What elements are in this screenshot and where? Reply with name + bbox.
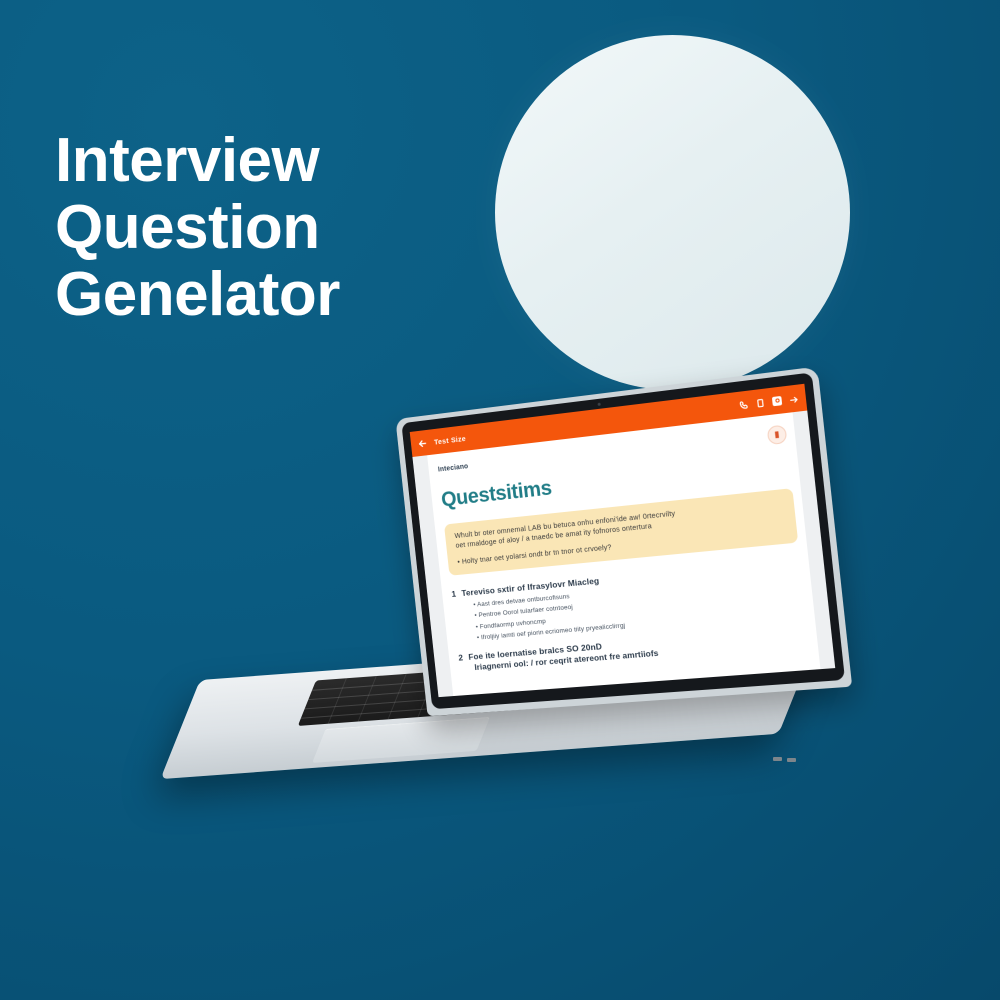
port-left xyxy=(773,757,782,761)
list-number: 2 xyxy=(458,653,463,663)
arrow-left-icon[interactable] xyxy=(417,437,428,449)
share-icon[interactable] xyxy=(789,393,799,403)
list-number: 1 xyxy=(451,589,456,599)
port-right xyxy=(787,758,796,762)
laptop-device: Test Size xyxy=(195,385,875,805)
screen: Test Size xyxy=(410,384,836,697)
battery-icon[interactable] xyxy=(755,397,765,407)
title-line-2: Question xyxy=(55,195,475,262)
webcam-icon xyxy=(598,403,601,406)
screen-bezel: Test Size xyxy=(401,372,845,709)
app-bar-actions xyxy=(739,393,799,409)
record-icon[interactable] xyxy=(772,395,782,405)
page-title: Interview Question Genelator xyxy=(55,128,475,329)
user-badge-icon[interactable]: ▮ xyxy=(767,425,788,446)
user-badge-glyph: ▮ xyxy=(774,430,779,439)
trackpad[interactable] xyxy=(312,717,490,763)
title-line-1: Interview xyxy=(55,128,475,195)
laptop-lid: Test Size xyxy=(395,366,852,716)
phone-icon[interactable] xyxy=(739,399,749,409)
title-line-3: Genelator xyxy=(55,262,475,329)
page-content: Inteciano ▮ Questsitims Whult br oter om… xyxy=(412,411,835,698)
app-bar-title: Test Size xyxy=(434,434,467,447)
pale-circle-decoration xyxy=(495,35,850,390)
eyebrow-label: Inteciano xyxy=(438,463,469,473)
answer-list: 1 Tereviso sxtir of Ifrasylovr Miacleg A… xyxy=(451,557,810,675)
